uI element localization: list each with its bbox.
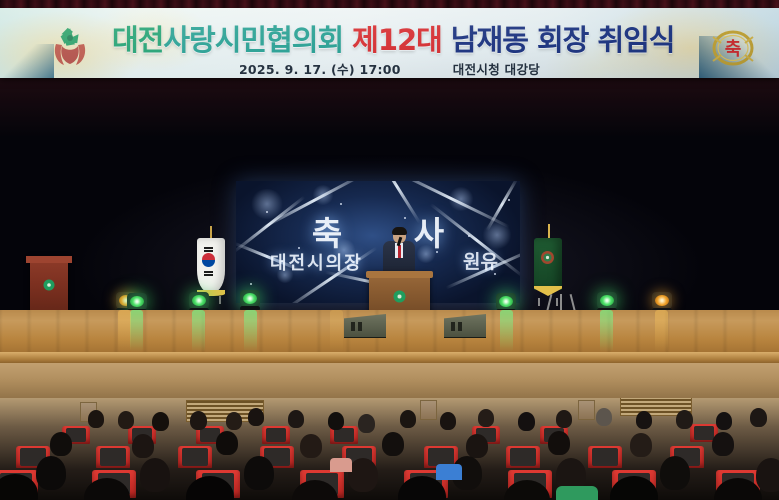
floor-reflection-green-1 [130, 310, 143, 352]
organization-flag-emblem-icon [540, 250, 555, 265]
attendee-head [478, 409, 494, 427]
seat [262, 426, 290, 444]
podium-emblem-icon [393, 290, 406, 303]
title-segment-1: 대전 [112, 17, 163, 59]
attendee-head [518, 412, 535, 431]
attendee-blue-shirt [436, 464, 462, 480]
attendee-head [36, 456, 66, 490]
stage-light-green-3 [496, 293, 516, 310]
banner-subtitle-row: 2025. 9. 17. (수) 17:00 대전시청 대강당 [0, 58, 779, 78]
attendee-head [440, 412, 456, 430]
korean-national-flag [193, 234, 229, 296]
attendee-head [750, 408, 767, 427]
title-segment-4: 남재동 회장 취임식 [451, 17, 675, 59]
attendee-head [466, 434, 488, 458]
event-photo-scene: 대전 사랑시민협의회 제12대 남재동 회장 취임식 2025. 9. 17. … [0, 0, 779, 500]
floor-reflection-green-4 [500, 310, 513, 352]
attendee-head [226, 412, 242, 430]
attendee-head [712, 432, 734, 456]
wall-panel-center [420, 400, 437, 420]
seat [178, 446, 212, 468]
attendee-head [630, 433, 652, 457]
stage-light-green-5 [240, 290, 260, 307]
stage-front-face [0, 363, 779, 401]
attendee-head [660, 456, 690, 490]
floor-reflection-amber-1 [118, 310, 131, 352]
attendee-head [328, 412, 344, 430]
stage-light-green-4 [597, 292, 617, 309]
attendee-pink-shirt [330, 458, 352, 472]
banner-title: 대전 사랑시민협의회 제12대 남재동 회장 취임식 [112, 19, 687, 57]
title-segment-3: 제12대 [352, 17, 442, 59]
seat [588, 446, 622, 468]
attendee-head [216, 431, 238, 455]
attendee-head [548, 431, 570, 455]
organization-flag [530, 234, 566, 298]
attendee-head [556, 410, 572, 428]
attendee-head [400, 410, 416, 428]
stage-light-green-2 [127, 293, 147, 310]
led-speaker-name: 원유 [463, 247, 498, 274]
attendee-head [50, 432, 72, 456]
event-banner: 대전 사랑시민협의회 제12대 남재동 회장 취임식 2025. 9. 17. … [0, 8, 779, 78]
floor-reflection-green-5 [600, 310, 613, 352]
attendee-head [358, 414, 375, 433]
floor-reflection-green-2 [192, 310, 205, 352]
seat [506, 446, 540, 468]
emblem-char: 축 [725, 39, 742, 60]
seat [96, 446, 130, 468]
attendee-head [348, 458, 378, 492]
attendee-head [288, 410, 304, 428]
attendee-green-shirt [556, 486, 598, 500]
attendee-head [140, 458, 170, 492]
attendee-head [636, 411, 652, 429]
title-segment-2: 사랑시민협의회 [163, 17, 343, 59]
event-location: 대전시청 대강당 [453, 59, 540, 78]
attendee-head [190, 411, 207, 430]
attendee-head [88, 410, 104, 428]
attendee-head [248, 408, 264, 426]
wall-sheen [0, 78, 779, 138]
attendee-head [152, 412, 169, 431]
attendee-head [300, 434, 322, 458]
attendee-head [382, 432, 404, 456]
attendee-head [244, 456, 274, 490]
attendee-head [676, 410, 693, 429]
audience-area [0, 398, 779, 500]
attendee-head [132, 434, 154, 458]
attendee-head [756, 458, 779, 492]
floor-reflection-amber-2 [655, 310, 668, 352]
stage-light-amber-2 [652, 292, 672, 309]
floor-reflection-green-3 [244, 310, 257, 352]
podium-speaker [382, 228, 416, 274]
gold-chuk-celebration-emblem: 축 [705, 23, 761, 73]
side-podium-emblem-icon [43, 278, 55, 290]
attendee-head [118, 411, 134, 429]
wall-panel-right [578, 400, 595, 420]
attendee-head [716, 412, 732, 430]
event-datetime: 2025. 9. 17. (수) 17:00 [239, 59, 401, 78]
floor-reflection-amber-3 [330, 310, 343, 352]
attendee-head [596, 408, 612, 426]
stage-light-green-1 [189, 292, 209, 309]
